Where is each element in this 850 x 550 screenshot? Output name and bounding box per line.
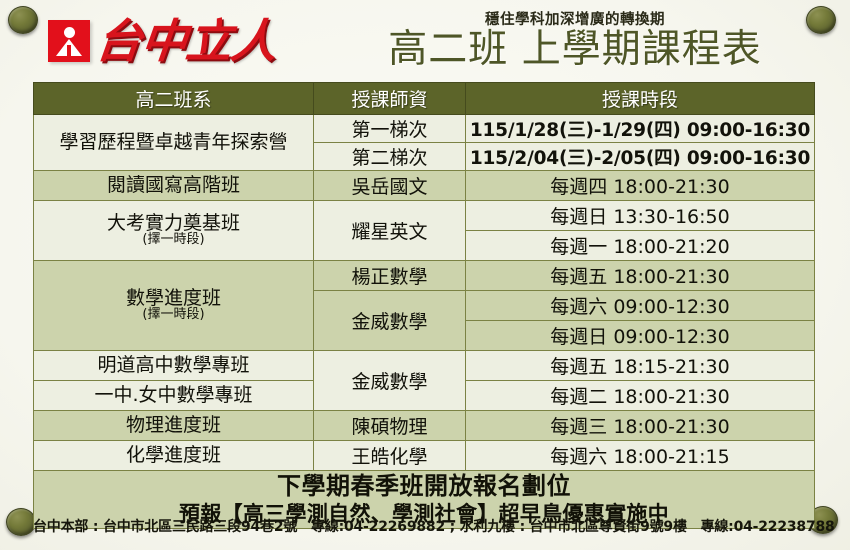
course-name: 明道高中數學專班 — [97, 354, 249, 376]
cell-teacher: 第一梯次 — [314, 115, 466, 143]
cell-time: 每週二 18:00-21:30 — [466, 381, 815, 411]
person-in-red-square-icon — [48, 20, 90, 62]
poster-root: 台中立人 穩住學科加深增廣的轉換期 高二班 上學期課程表 高二班系 授課師資 授… — [0, 0, 850, 550]
cell-course: 化學進度班 — [34, 441, 314, 471]
promo-line-1: 下學期春季班開放報名劃位 — [36, 471, 812, 501]
cell-time: 每週六 09:00-12:30 — [466, 291, 815, 321]
course-name: 物理進度班 — [126, 414, 221, 436]
cell-teacher: 吳岳國文 — [314, 171, 466, 201]
table-row: 明道高中數學專班金威數學每週五 18:15-21:30 — [34, 351, 815, 381]
cell-time: 115/1/28(三)-1/29(四) 09:00-16:30 — [466, 115, 815, 143]
logo-leg-gap-shape — [67, 45, 71, 56]
page-title: 高二班 上學期課程表 — [340, 30, 810, 71]
cell-time: 115/2/04(三)-2/05(四) 09:00-16:30 — [466, 143, 815, 171]
cell-time: 每週五 18:15-21:30 — [466, 351, 815, 381]
course-note: (擇一時段) — [36, 308, 311, 322]
cell-teacher: 耀星英文 — [314, 201, 466, 261]
corner-stud-top-right-icon — [806, 6, 836, 34]
table-row: 閱讀國寫高階班吳岳國文每週四 18:00-21:30 — [34, 171, 815, 201]
cell-time: 每週日 13:30-16:50 — [466, 201, 815, 231]
corner-stud-bottom-left-icon — [6, 508, 36, 536]
schedule-table-body: 學習歷程暨卓越青年探索營第一梯次115/1/28(三)-1/29(四) 09:0… — [34, 115, 815, 471]
table-header-row: 高二班系 授課師資 授課時段 — [34, 83, 815, 115]
cell-teacher: 金威數學 — [314, 291, 466, 351]
cell-time: 每週六 18:00-21:15 — [466, 441, 815, 471]
course-name: 閱讀國寫高階班 — [107, 174, 240, 196]
cell-teacher: 第二梯次 — [314, 143, 466, 171]
brand-name: 台中立人 — [94, 18, 279, 64]
schedule-table: 高二班系 授課師資 授課時段 學習歷程暨卓越青年探索營第一梯次115/1/28(… — [33, 82, 815, 529]
column-header-teacher: 授課師資 — [314, 83, 466, 115]
course-note: (擇一時段) — [36, 233, 311, 247]
logo-head-shape — [64, 27, 75, 38]
cell-teacher: 陳碩物理 — [314, 411, 466, 441]
contact-footer: 台中本部 : 台中市北區三民路三段94巷2號 專線:04-22269882 ; … — [33, 516, 817, 536]
cell-course: 大考實力奠基班(擇一時段) — [34, 201, 314, 261]
brand-logo: 台中立人 — [48, 18, 276, 64]
cell-time: 每週一 18:00-21:20 — [466, 231, 815, 261]
cell-time: 每週五 18:00-21:30 — [466, 261, 815, 291]
table-row: 物理進度班陳碩物理每週三 18:00-21:30 — [34, 411, 815, 441]
cell-teacher: 王皓化學 — [314, 441, 466, 471]
cell-time: 每週三 18:00-21:30 — [466, 411, 815, 441]
corner-stud-top-left-icon — [8, 6, 38, 34]
cell-time: 每週四 18:00-21:30 — [466, 171, 815, 201]
cell-course: 閱讀國寫高階班 — [34, 171, 314, 201]
course-name: 化學進度班 — [126, 444, 221, 466]
cell-time: 每週日 09:00-12:30 — [466, 321, 815, 351]
column-header-time: 授課時段 — [466, 83, 815, 115]
course-name: 學習歷程暨卓越青年探索營 — [59, 131, 287, 153]
title-block: 穩住學科加深增廣的轉換期 高二班 上學期課程表 — [340, 8, 810, 71]
poster-subtitle: 穩住學科加深增廣的轉換期 — [340, 8, 810, 29]
cell-course: 一中.女中數學專班 — [34, 381, 314, 411]
table-row: 大考實力奠基班(擇一時段)耀星英文每週日 13:30-16:50 — [34, 201, 815, 231]
course-name: 一中.女中數學專班 — [94, 384, 252, 406]
cell-course: 明道高中數學專班 — [34, 351, 314, 381]
cell-course: 物理進度班 — [34, 411, 314, 441]
cell-teacher: 楊正數學 — [314, 261, 466, 291]
table-row: 數學進度班(擇一時段)楊正數學每週五 18:00-21:30 — [34, 261, 815, 291]
cell-course: 數學進度班(擇一時段) — [34, 261, 314, 351]
cell-teacher: 金威數學 — [314, 351, 466, 411]
cell-course: 學習歷程暨卓越青年探索營 — [34, 115, 314, 171]
table-row: 化學進度班王皓化學每週六 18:00-21:15 — [34, 441, 815, 471]
column-header-course: 高二班系 — [34, 83, 314, 115]
table-row: 學習歷程暨卓越青年探索營第一梯次115/1/28(三)-1/29(四) 09:0… — [34, 115, 815, 143]
